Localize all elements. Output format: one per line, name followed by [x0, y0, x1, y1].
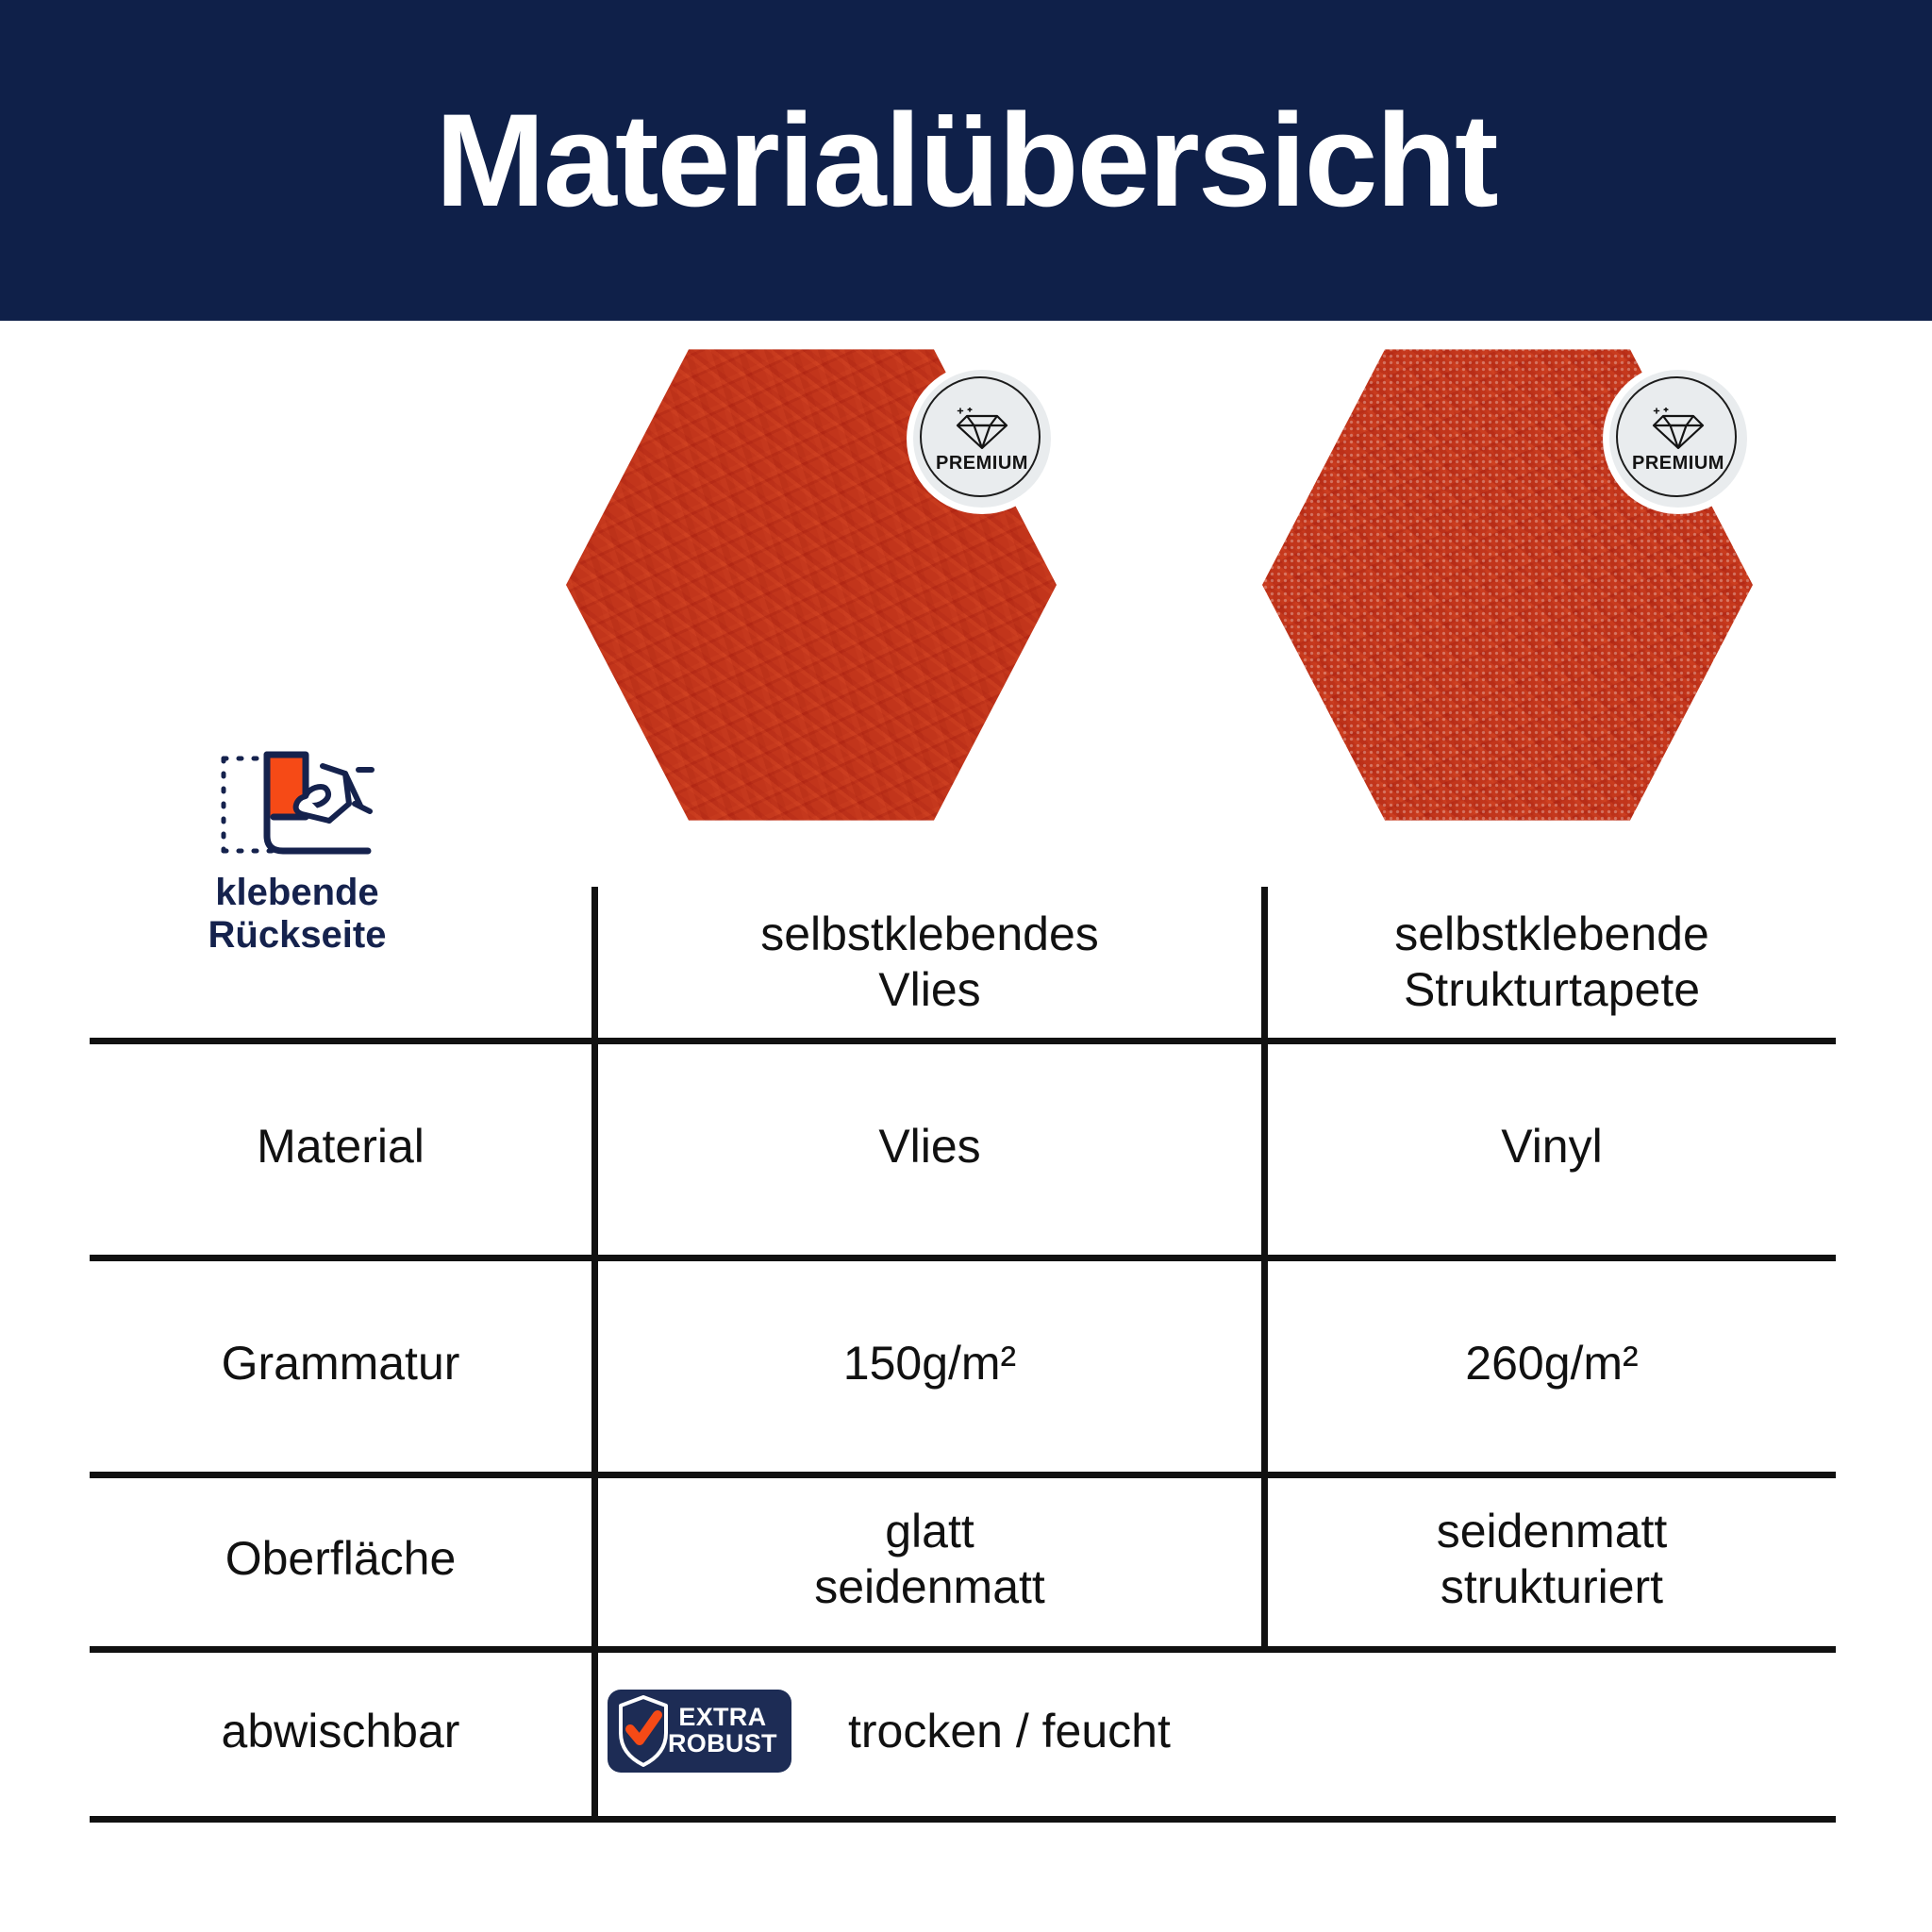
- premium-badge: PREMIUM: [1609, 370, 1747, 508]
- abwischbar-text: trocken / feucht: [848, 1704, 1171, 1759]
- extra-robust-badge: EXTRA ROBUST: [608, 1690, 791, 1773]
- preview-hexagon-strukturtapete: PREMIUM: [1262, 340, 1753, 830]
- premium-badge: PREMIUM: [913, 370, 1051, 508]
- page-header: Materialübersicht: [0, 0, 1932, 321]
- table-cell-abwischbar-value: EXTRA ROBUST trocken / feucht: [598, 1646, 1836, 1816]
- diamond-icon: [1651, 408, 1706, 451]
- header-col3-line1: selbstklebende: [1394, 907, 1709, 962]
- header-col3-line2: Strukturtapete: [1394, 962, 1709, 1018]
- column-divider-2: [1261, 887, 1268, 1646]
- material-comparison-table: selbstklebendes Vlies selbstklebende Str…: [90, 887, 1836, 1823]
- table-header-cell-strukturtapete: selbstklebende Strukturtapete: [1268, 887, 1836, 1038]
- peeling-adhesive-backing-icon: [208, 745, 387, 866]
- table-row-label-material: Material: [90, 1038, 591, 1255]
- table-header-cell-vlies: selbstklebendes Vlies: [598, 887, 1261, 1038]
- column-divider-1: [591, 887, 598, 1821]
- extra-robust-label: EXTRA ROBUST: [668, 1705, 777, 1757]
- table-cell-grammatur-vlies: 150g/m²: [598, 1255, 1261, 1472]
- table-cell-material-vinyl: Vinyl: [1268, 1038, 1836, 1255]
- premium-badge-label: PREMIUM: [1632, 453, 1724, 475]
- row-divider-5: [90, 1816, 1836, 1823]
- robust-line-1: EXTRA: [668, 1705, 777, 1731]
- diamond-icon: [955, 408, 1009, 451]
- oberflaeche-col2-line1: glatt: [814, 1504, 1045, 1559]
- oberflaeche-col3-line2: strukturiert: [1437, 1559, 1668, 1615]
- page-title: Materialübersicht: [435, 94, 1496, 226]
- table-cell-oberflaeche-vinyl: seidenmatt strukturiert: [1268, 1472, 1836, 1646]
- header-col2-line2: Vlies: [760, 962, 1099, 1018]
- table-cell-material-vlies: Vlies: [598, 1038, 1261, 1255]
- oberflaeche-col2-line2: seidenmatt: [814, 1559, 1045, 1615]
- preview-hexagon-vlies: PREMIUM: [566, 340, 1057, 830]
- robust-line-2: ROBUST: [668, 1731, 777, 1757]
- table-cell-oberflaeche-vlies: glatt seidenmatt: [598, 1472, 1261, 1646]
- shield-check-icon: [619, 1695, 668, 1767]
- table-row-label-grammatur: Grammatur: [90, 1255, 591, 1472]
- table-row-label-abwischbar: abwischbar: [90, 1646, 591, 1816]
- table-row-label-oberflaeche: Oberfläche: [90, 1472, 591, 1646]
- oberflaeche-col3-line1: seidenmatt: [1437, 1504, 1668, 1559]
- table-cell-grammatur-vinyl: 260g/m²: [1268, 1255, 1836, 1472]
- premium-badge-label: PREMIUM: [936, 453, 1028, 475]
- header-col2-line1: selbstklebendes: [760, 907, 1099, 962]
